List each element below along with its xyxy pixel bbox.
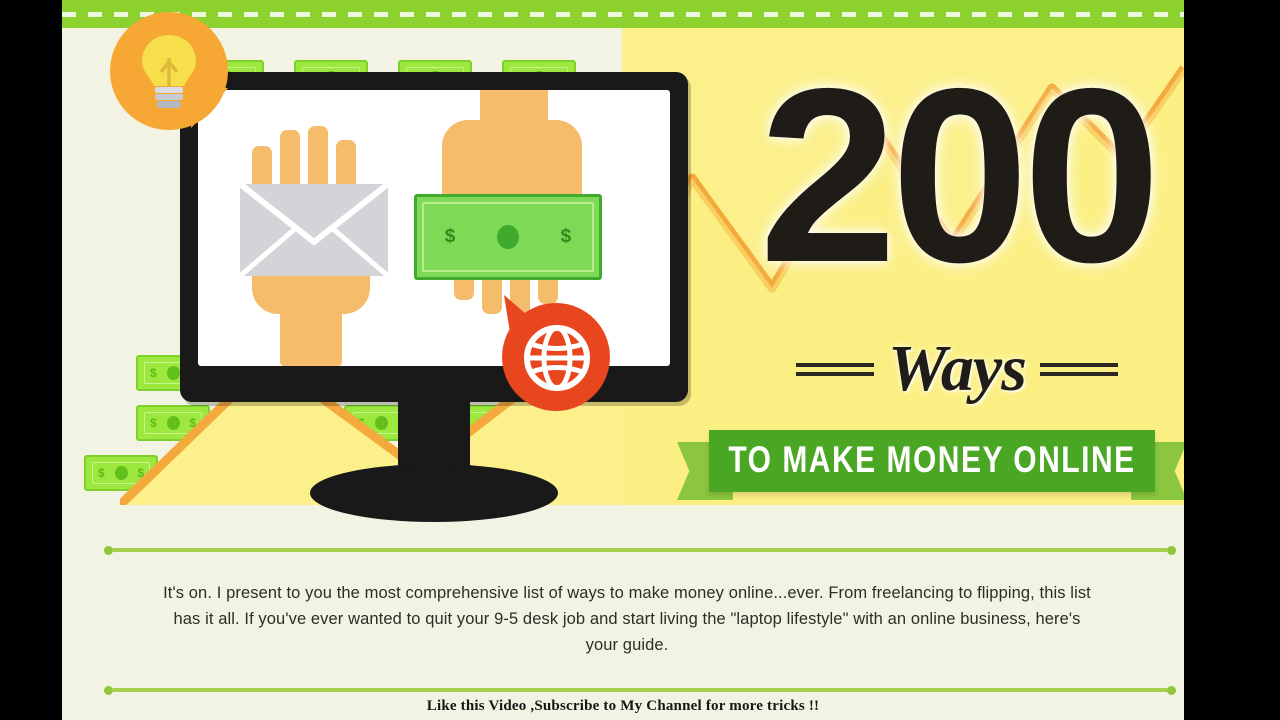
subscribe-caption: Like this Video ,Subscribe to My Channel… [62, 698, 1184, 715]
monitor-base [310, 464, 558, 522]
top-band-dashes [62, 12, 1184, 17]
banknote-icon: $ $ [414, 194, 602, 280]
headline-number: 200 [759, 40, 1155, 310]
ribbon-label: TO MAKE MONEY ONLINE [728, 440, 1135, 481]
envelope-icon [240, 184, 388, 276]
headline-block: 200 + [722, 40, 1184, 320]
divider-bar [112, 688, 1168, 692]
divider-cap-right [1167, 686, 1176, 695]
ribbon-banner: TO MAKE MONEY ONLINE [677, 430, 1184, 502]
lightbulb-badge [110, 12, 230, 132]
body-paragraph: It's on. I present to you the most compr… [162, 580, 1092, 658]
screenshot-stage: $$ $$ $$ $$ $$ $$ $$ $$ $$ $$ $$ $$ $$ $… [0, 0, 1280, 720]
letterbox-right [1184, 0, 1280, 720]
letterbox-left [0, 0, 62, 720]
divider-lower [104, 686, 1176, 694]
ways-label: Ways [888, 331, 1026, 407]
bill-dollar-left: $ [445, 226, 456, 248]
globe-badge [502, 295, 618, 411]
infographic-canvas: $$ $$ $$ $$ $$ $$ $$ $$ $$ $$ $$ $$ $$ $… [62, 0, 1184, 720]
ways-row: Ways [722, 330, 1184, 408]
divider-upper [104, 546, 1176, 554]
top-green-band [62, 0, 1184, 28]
divider-bar [112, 548, 1168, 552]
hand-with-envelope [240, 112, 390, 366]
globe-icon [524, 325, 590, 391]
lightbulb-icon [138, 32, 200, 112]
bill-dollar-right: $ [561, 226, 572, 248]
bill-seal [497, 225, 519, 249]
monitor-illustration: $ $ [180, 72, 700, 522]
ribbon-main-band: TO MAKE MONEY ONLINE [709, 430, 1155, 492]
divider-cap-right [1167, 546, 1176, 555]
